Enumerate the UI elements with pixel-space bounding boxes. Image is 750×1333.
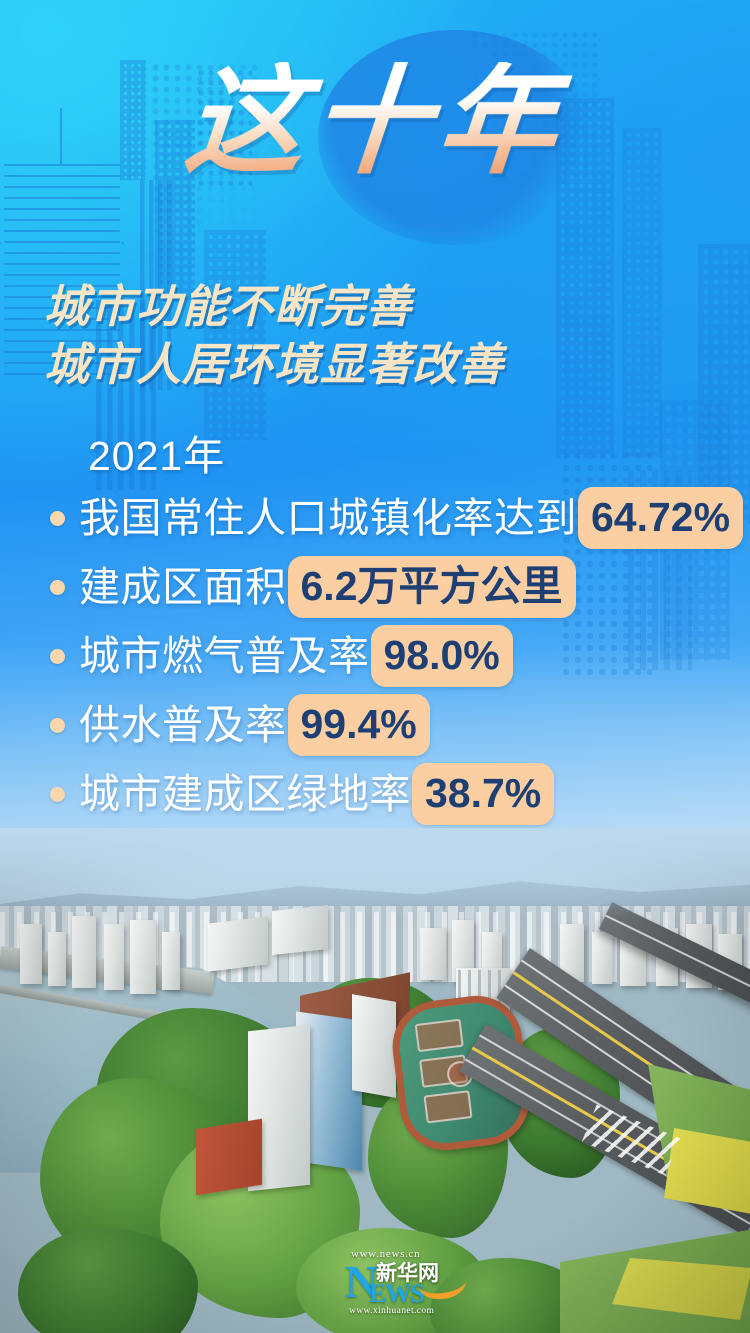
list-item: 我国常住人口城镇化率达到 64.72% <box>50 487 750 549</box>
stat-label: 建成区面积 <box>79 562 287 612</box>
logo-wordmark: N 新华网 EWS <box>345 1261 471 1305</box>
stat-label: 城市建成区绿地率 <box>79 769 411 819</box>
headline-line-1: 城市功能不断完善 <box>44 281 412 332</box>
stat-label: 城市燃气普及率 <box>79 631 370 681</box>
headline-line-2: 城市人居环境显著改善 <box>44 336 704 394</box>
stat-value-badge: 38.7% <box>412 763 554 825</box>
poster-kicker-title: 这十年 <box>0 62 750 180</box>
page-title: 城市功能不断完善 城市人居环境显著改善 <box>44 278 704 394</box>
bullet-dot-icon <box>50 718 65 733</box>
stat-value-badge: 99.4% <box>288 694 430 756</box>
xinhua-logo[interactable]: www.news.cn N 新华网 EWS www.xinhuanet.com <box>345 1248 471 1318</box>
list-item: 城市建成区绿地率 38.7% <box>50 763 750 825</box>
list-item: 建成区面积 6.2万平方公里 <box>50 556 750 618</box>
infographic-poster: 这十年 城市功能不断完善 城市人居环境显著改善 2021年 我国常住人口城镇化率… <box>0 0 750 1333</box>
bullet-dot-icon <box>50 787 65 802</box>
photo-top-fade <box>0 828 750 918</box>
stat-value-badge: 98.0% <box>371 625 513 687</box>
list-item: 供水普及率 99.4% <box>50 694 750 756</box>
year-label: 2021年 <box>88 432 225 480</box>
bullet-dot-icon <box>50 649 65 664</box>
list-item: 城市燃气普及率 98.0% <box>50 625 750 687</box>
bullet-dot-icon <box>50 511 65 526</box>
stat-label: 我国常住人口城镇化率达到 <box>79 493 577 543</box>
stat-value-badge: 6.2万平方公里 <box>288 556 576 618</box>
bullet-dot-icon <box>50 580 65 595</box>
logo-letters-ews: EWS <box>369 1281 424 1307</box>
stat-label: 供水普及率 <box>79 700 287 750</box>
stat-value-badge: 64.72% <box>578 487 743 549</box>
